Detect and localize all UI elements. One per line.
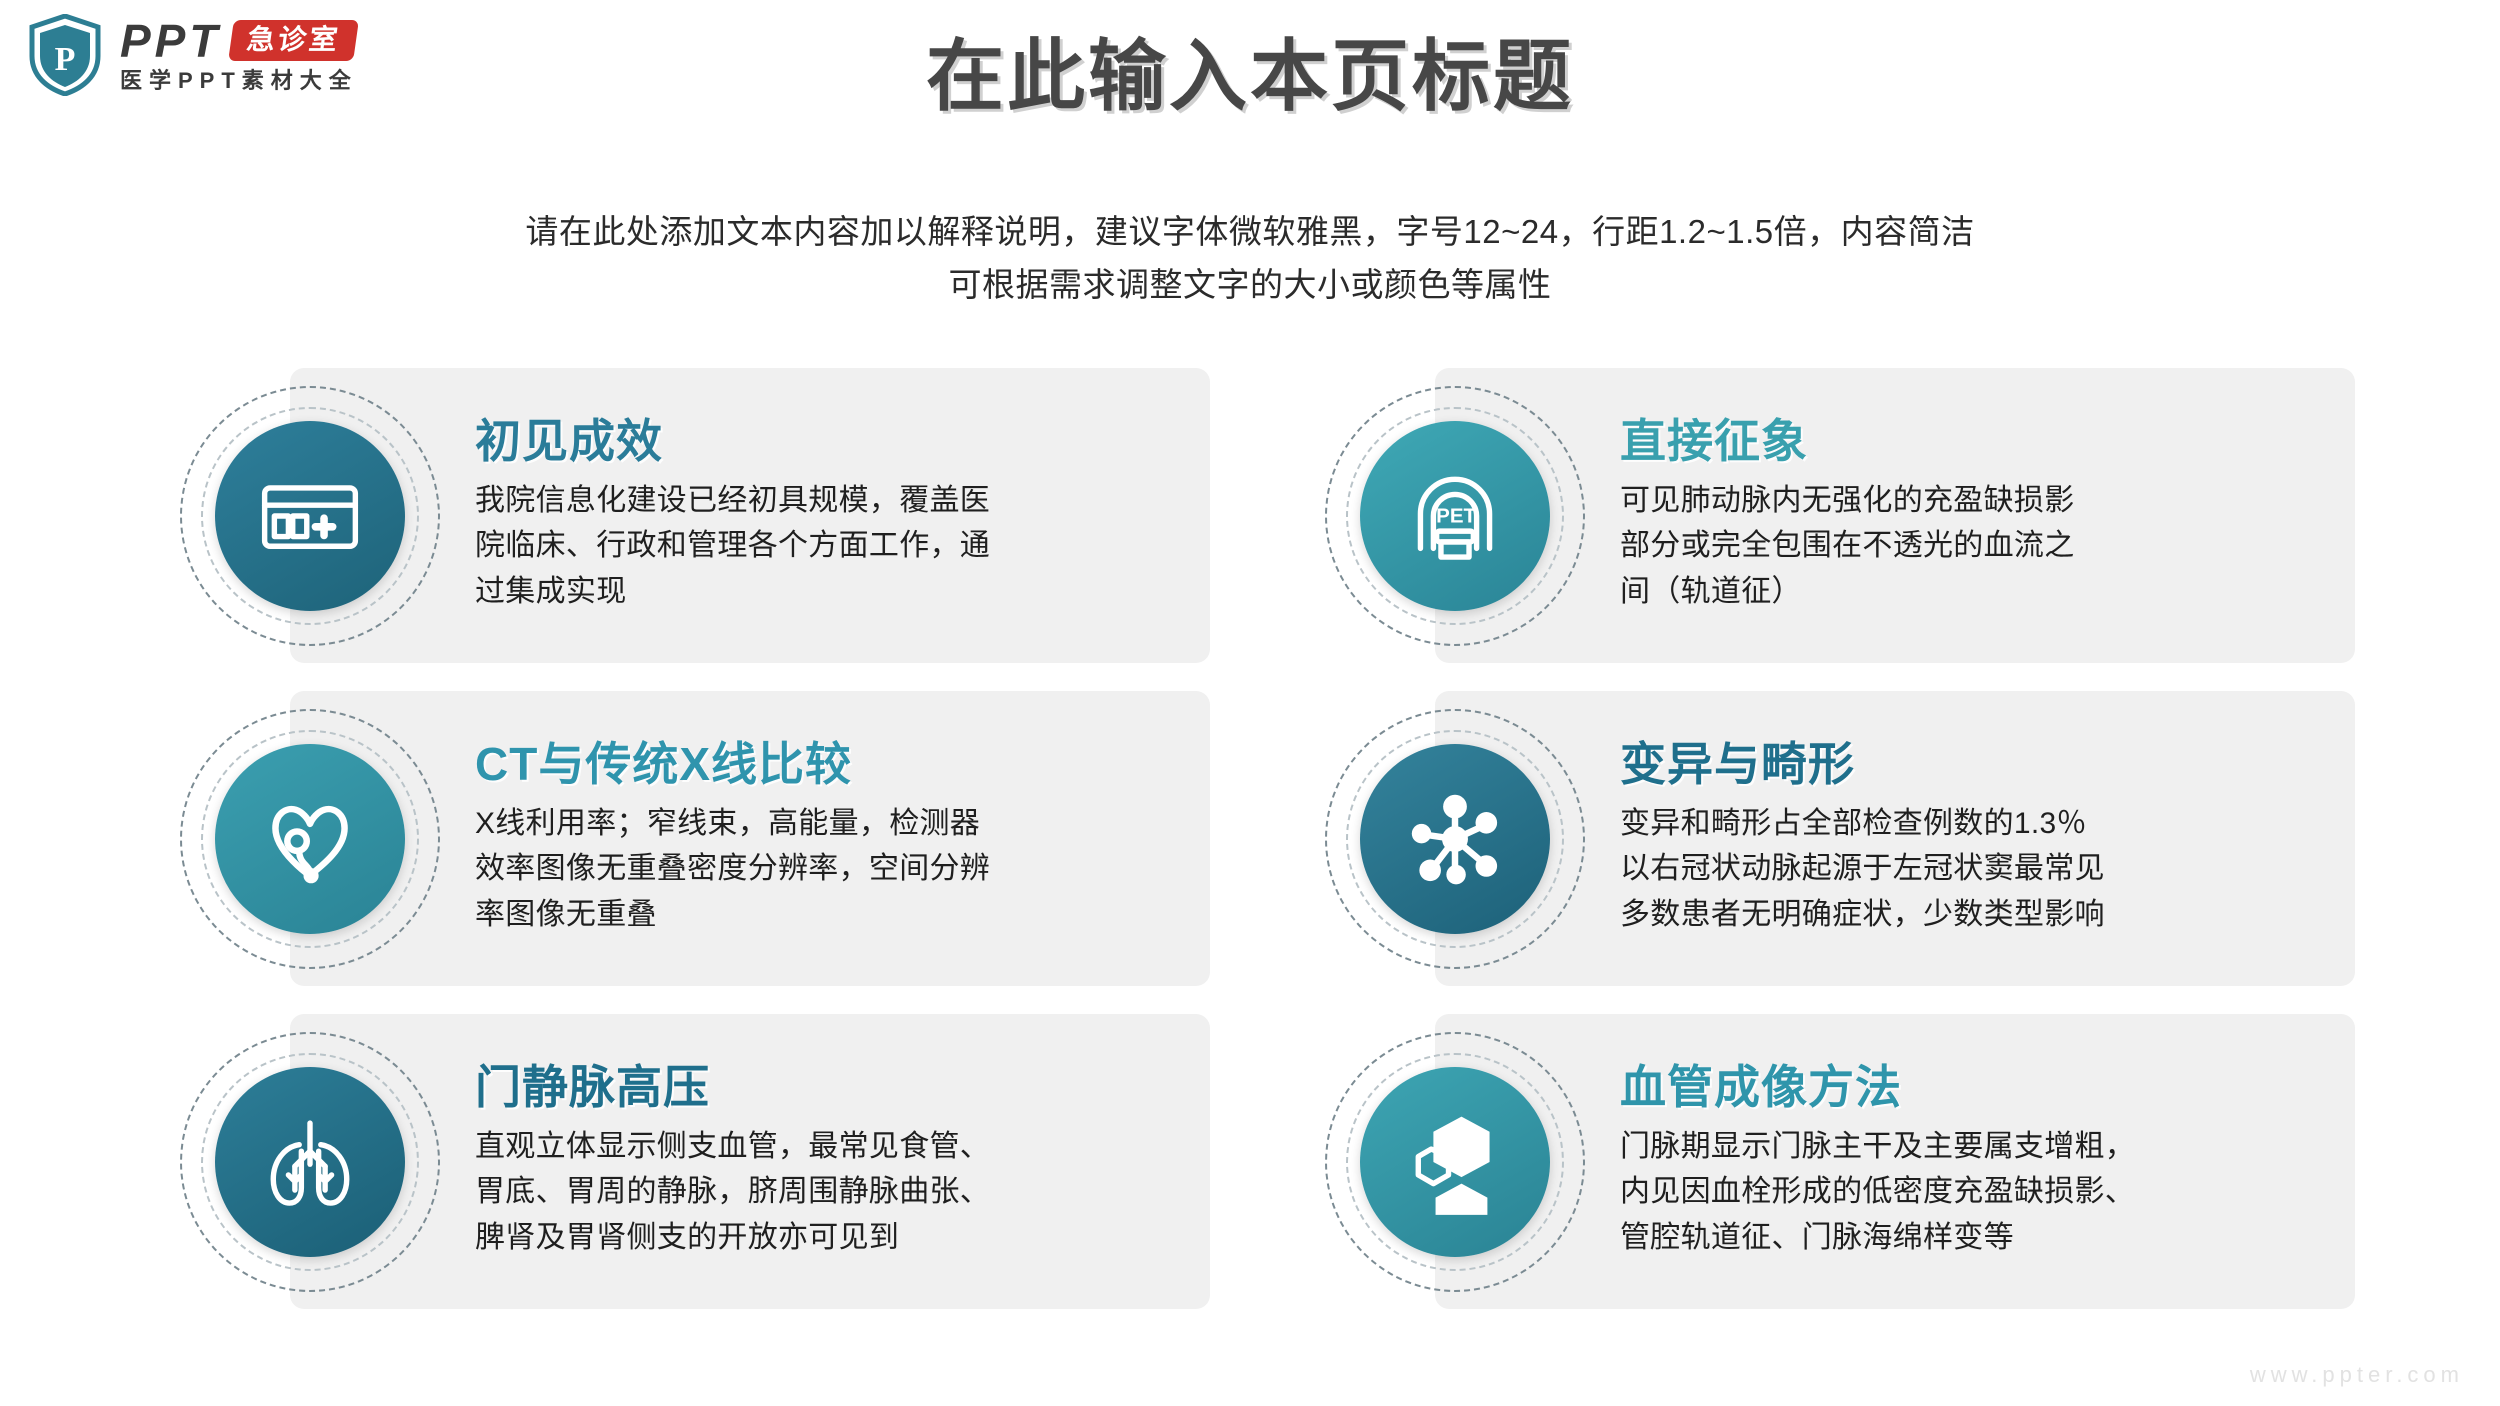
svg-text:.PET.: .PET. bbox=[1430, 504, 1479, 527]
card-direct-signs[interactable]: .PET. 直接征象可见肺动脉内无强化的充盈缺损影部分或完全包围在不透光的血流之… bbox=[1320, 368, 2355, 663]
card-body: X线利用率；窄线束，高能量，检测器效率图像无重叠密度分辨率，空间分辨率图像无重叠 bbox=[475, 801, 1182, 938]
card-icon-badge bbox=[175, 381, 445, 651]
card-body-line: 胃底、胃周的静脉，脐周围静脉曲张、 bbox=[475, 1169, 1182, 1215]
card-icon-badge bbox=[175, 704, 445, 974]
card-text-block: 门静脉高压直观立体显示侧支血管，最常见食管、胃底、胃周的静脉，脐周围静脉曲张、脾… bbox=[475, 1014, 1182, 1309]
card-title: 血管成像方法 bbox=[1620, 1062, 2327, 1114]
stethoscope-heart-icon bbox=[215, 744, 405, 934]
card-body: 直观立体显示侧支血管，最常见食管、胃底、胃周的静脉，脐周围静脉曲张、脾肾及胃肾侧… bbox=[475, 1124, 1182, 1261]
card-body: 门脉期显示门脉主干及主要属支增粗，内见因血栓形成的低密度充盈缺损影、管腔轨道征、… bbox=[1620, 1124, 2327, 1261]
card-body-line: 院临床、行政和管理各个方面工作，通 bbox=[475, 523, 1182, 569]
card-text-block: 初见成效我院信息化建设已经初具规模，覆盖医院临床、行政和管理各个方面工作，通过集… bbox=[475, 368, 1182, 663]
card-body-line: 率图像无重叠 bbox=[475, 892, 1182, 938]
card-title: CT与传统X线比较 bbox=[475, 739, 1182, 791]
footer-watermark: www.ppter.com bbox=[2250, 1362, 2464, 1388]
card-title: 变异与畸形 bbox=[1620, 739, 2327, 791]
page-subtitle: 请在此处添加文本内容加以解释说明，建议字体微软雅黑，字号12~24，行距1.2~… bbox=[0, 205, 2500, 312]
card-body-line: 脾肾及胃肾侧支的开放亦可见到 bbox=[475, 1215, 1182, 1261]
card-body-line: 管腔轨道征、门脉海绵样变等 bbox=[1620, 1215, 2327, 1261]
lungs-icon bbox=[215, 1067, 405, 1257]
card-body-line: 效率图像无重叠密度分辨率，空间分辨 bbox=[475, 846, 1182, 892]
card-body: 我院信息化建设已经初具规模，覆盖医院临床、行政和管理各个方面工作，通过集成实现 bbox=[475, 478, 1182, 615]
feature-card-grid: 初见成效我院信息化建设已经初具规模，覆盖医院临床、行政和管理各个方面工作，通过集… bbox=[175, 368, 2355, 1309]
card-title: 直接征象 bbox=[1620, 416, 2327, 468]
card-icon-badge bbox=[175, 1027, 445, 1297]
card-title: 门静脉高压 bbox=[475, 1062, 1182, 1114]
card-icon-badge: .PET. bbox=[1320, 381, 1590, 651]
page-title: 在此输入本页标题 bbox=[0, 36, 2500, 118]
card-angiography-method[interactable]: 血管成像方法门脉期显示门脉主干及主要属支增粗，内见因血栓形成的低密度充盈缺损影、… bbox=[1320, 1014, 2355, 1309]
card-icon-badge bbox=[1320, 1027, 1590, 1297]
card-text-block: CT与传统X线比较X线利用率；窄线束，高能量，检测器效率图像无重叠密度分辨率，空… bbox=[475, 691, 1182, 986]
card-body-line: 门脉期显示门脉主干及主要属支增粗， bbox=[1620, 1124, 2327, 1170]
card-title: 初见成效 bbox=[475, 416, 1182, 468]
molecule-icon bbox=[1360, 744, 1550, 934]
hexagon-cells-icon bbox=[1360, 1067, 1550, 1257]
card-initial-results[interactable]: 初见成效我院信息化建设已经初具规模，覆盖医院临床、行政和管理各个方面工作，通过集… bbox=[175, 368, 1210, 663]
card-ct-vs-xray[interactable]: CT与传统X线比较X线利用率；窄线束，高能量，检测器效率图像无重叠密度分辨率，空… bbox=[175, 691, 1210, 986]
card-body-line: 间（轨道征） bbox=[1620, 569, 2327, 615]
pet-scanner-icon: .PET. bbox=[1360, 421, 1550, 611]
card-text-block: 变异与畸形变异和畸形占全部检查例数的1.3％以右冠状动脉起源于左冠状窦最常见多数… bbox=[1620, 691, 2327, 986]
card-icon-badge bbox=[1320, 704, 1590, 974]
id-card-plus-icon bbox=[215, 421, 405, 611]
card-body-line: 内见因血栓形成的低密度充盈缺损影、 bbox=[1620, 1169, 2327, 1215]
card-body-line: 我院信息化建设已经初具规模，覆盖医 bbox=[475, 478, 1182, 524]
card-body-line: 过集成实现 bbox=[475, 569, 1182, 615]
card-portal-hypertension[interactable]: 门静脉高压直观立体显示侧支血管，最常见食管、胃底、胃周的静脉，脐周围静脉曲张、脾… bbox=[175, 1014, 1210, 1309]
subtitle-line-2: 可根据需求调整文字的大小或颜色等属性 bbox=[0, 258, 2500, 311]
card-body: 可见肺动脉内无强化的充盈缺损影部分或完全包围在不透光的血流之间（轨道征） bbox=[1620, 478, 2327, 615]
card-variation-deformity[interactable]: 变异与畸形变异和畸形占全部检查例数的1.3％以右冠状动脉起源于左冠状窦最常见多数… bbox=[1320, 691, 2355, 986]
card-text-block: 直接征象可见肺动脉内无强化的充盈缺损影部分或完全包围在不透光的血流之间（轨道征） bbox=[1620, 368, 2327, 663]
card-text-block: 血管成像方法门脉期显示门脉主干及主要属支增粗，内见因血栓形成的低密度充盈缺损影、… bbox=[1620, 1014, 2327, 1309]
card-body-line: 直观立体显示侧支血管，最常见食管、 bbox=[475, 1124, 1182, 1170]
card-body-line: 可见肺动脉内无强化的充盈缺损影 bbox=[1620, 478, 2327, 524]
card-body-line: X线利用率；窄线束，高能量，检测器 bbox=[475, 801, 1182, 847]
card-body: 变异和畸形占全部检查例数的1.3％以右冠状动脉起源于左冠状窦最常见多数患者无明确… bbox=[1620, 801, 2327, 938]
card-body-line: 变异和畸形占全部检查例数的1.3％ bbox=[1620, 801, 2327, 847]
card-body-line: 多数患者无明确症状，少数类型影响 bbox=[1620, 892, 2327, 938]
card-body-line: 部分或完全包围在不透光的血流之 bbox=[1620, 523, 2327, 569]
card-body-line: 以右冠状动脉起源于左冠状窦最常见 bbox=[1620, 846, 2327, 892]
subtitle-line-1: 请在此处添加文本内容加以解释说明，建议字体微软雅黑，字号12~24，行距1.2~… bbox=[0, 205, 2500, 258]
